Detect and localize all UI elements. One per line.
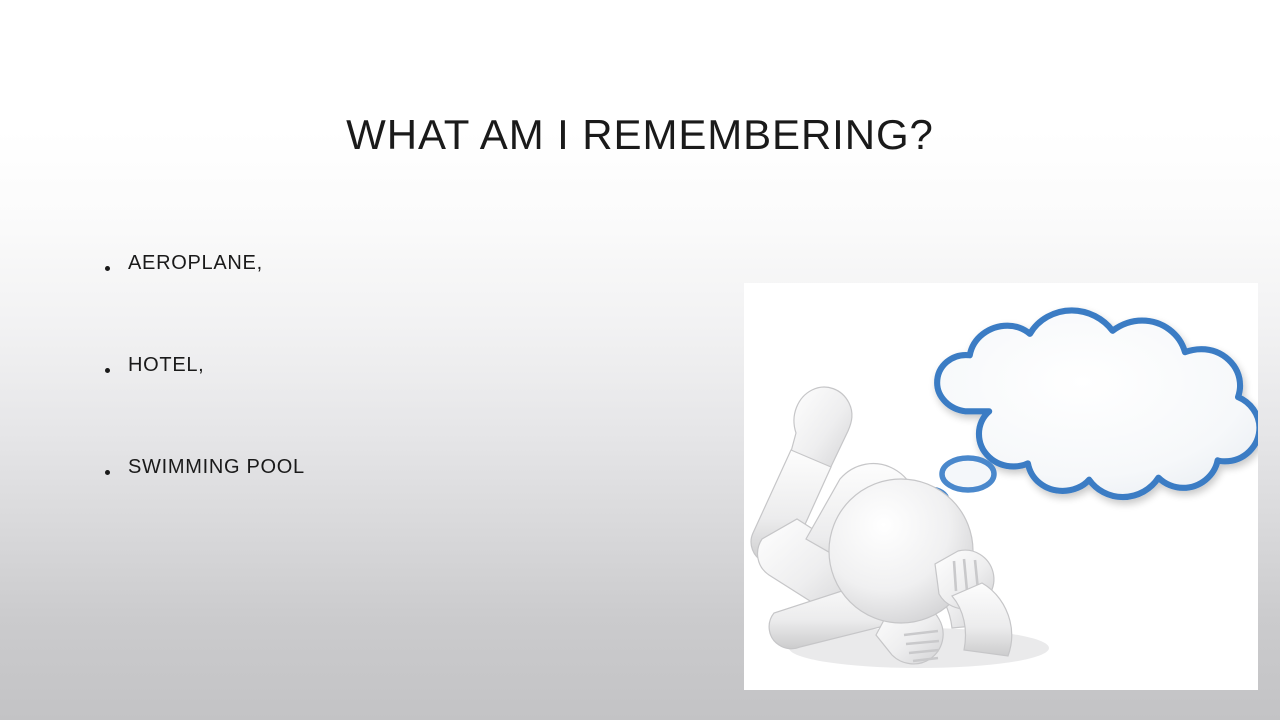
bullet-list: AEROPLANE, HOTEL, SWIMMING POOL: [96, 250, 696, 556]
thought-bubble-trail-large-icon: [942, 458, 994, 490]
list-item-label: HOTEL,: [128, 352, 204, 378]
page-title: WHAT AM I REMEMBERING?: [64, 112, 1216, 158]
bullet-dot-icon: [105, 470, 110, 475]
bullet-dot-icon: [105, 368, 110, 373]
slide-canvas: WHAT AM I REMEMBERING? AEROPLANE, HOTEL,…: [0, 0, 1280, 720]
list-item: SWIMMING POOL: [96, 454, 696, 556]
thinking-figure-image: [744, 283, 1258, 690]
list-item-label: SWIMMING POOL: [128, 454, 305, 480]
bullet-dot-icon: [105, 266, 110, 271]
list-item: AEROPLANE,: [96, 250, 696, 352]
list-item: HOTEL,: [96, 352, 696, 454]
list-item-label: AEROPLANE,: [128, 250, 263, 276]
thinking-figure-illustration: [744, 283, 1258, 690]
